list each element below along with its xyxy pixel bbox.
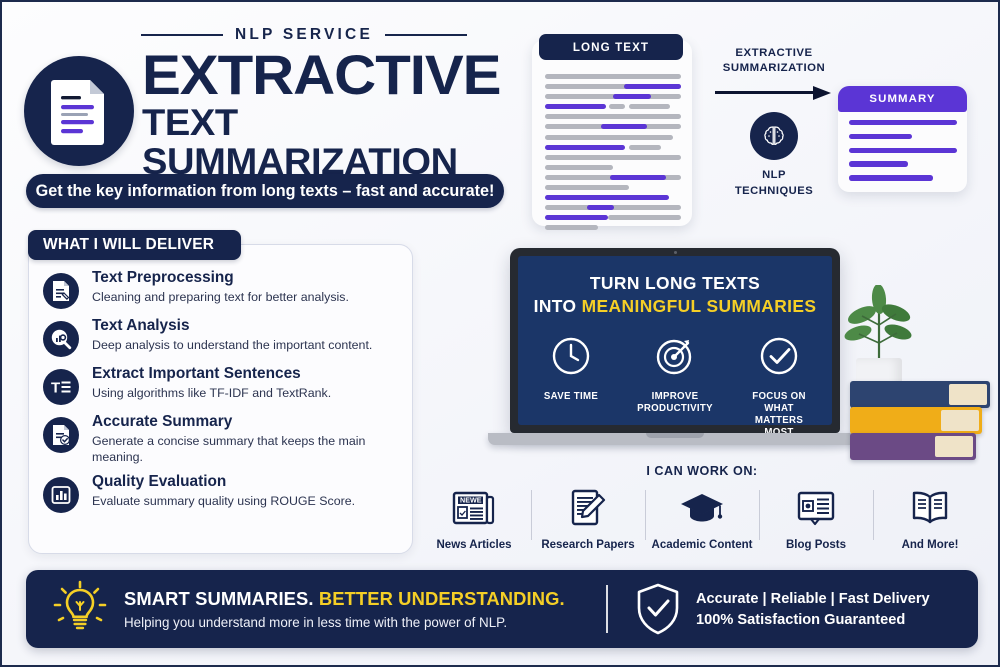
long-text-line xyxy=(545,135,681,140)
banner-left: SMART SUMMARIES. BETTER UNDERSTANDING. H… xyxy=(26,580,606,638)
banner-guarantee: Accurate | Reliable | Fast Delivery 100%… xyxy=(696,591,930,628)
work-on-label: News Articles xyxy=(420,539,528,551)
highlighted-segment xyxy=(545,145,625,150)
work-on-item-news: NEWE News Articles xyxy=(417,488,531,551)
long-text-line xyxy=(545,124,681,129)
plain-segment xyxy=(545,135,673,140)
deliver-item-title: Accurate Summary xyxy=(92,413,398,431)
screen-features: SAVE TIME IMPROVE PRODUCTIVITY xyxy=(531,335,819,440)
banner-subline: Helping you understand more in less time… xyxy=(124,615,565,630)
summary-line xyxy=(849,161,908,166)
process-column: EXTRACTIVE SUMMARIZATION NLP TECHNIQUES xyxy=(710,46,838,199)
deliver-item-desc: Deep analysis to understand the importan… xyxy=(92,337,398,353)
deliver-item-title: Quality Evaluation xyxy=(92,473,398,491)
long-text-line xyxy=(545,84,681,89)
list-item: Accurate Summary Generate a concise summ… xyxy=(43,413,398,465)
title-line-1: EXTRACTIVE xyxy=(142,48,537,102)
svg-text:NEWE: NEWE xyxy=(460,496,482,505)
deliver-item-desc: Evaluate summary quality using ROUGE Sco… xyxy=(92,493,398,509)
guarantee-line-2: 100% Satisfaction Guaranteed xyxy=(696,612,930,628)
plain-segment xyxy=(545,165,613,170)
long-text-header: LONG TEXT xyxy=(539,34,683,60)
work-on-row: NEWE News Articles Research Papers xyxy=(417,488,987,551)
banner-text: SMART SUMMARIES. BETTER UNDERSTANDING. H… xyxy=(124,588,565,630)
work-on-section: I CAN WORK ON: NEWE News Articles xyxy=(417,464,987,556)
check-circle-icon xyxy=(758,335,800,377)
magnifier-chart-icon xyxy=(43,321,79,357)
feature-improve-productivity: IMPROVE PRODUCTIVITY xyxy=(635,335,715,440)
document-edit-icon xyxy=(43,273,79,309)
work-on-label: Academic Content xyxy=(648,539,756,551)
plain-segment xyxy=(545,155,681,160)
newspaper-icon: NEWE xyxy=(451,488,497,528)
screen-headline-1: TURN LONG TEXTS xyxy=(590,273,760,294)
banner-headline-highlight: BETTER UNDERSTANDING. xyxy=(319,588,565,609)
technique-label-2: TECHNIQUES xyxy=(710,184,838,199)
arrow-right-icon xyxy=(715,86,833,100)
technique-label-1: NLP xyxy=(710,168,838,183)
feature-save-time: SAVE TIME xyxy=(531,335,611,440)
brain-icon xyxy=(750,112,798,160)
list-item: T Extract Important Sentences Using algo… xyxy=(43,365,398,405)
feature-label: IMPROVE PRODUCTIVITY xyxy=(635,391,715,415)
summarization-flow: LONG TEXT EXTRACTIVE SUMMARIZATION NLP T… xyxy=(527,34,987,234)
work-on-label: Research Papers xyxy=(534,539,642,551)
list-item: Quality Evaluation Evaluate summary qual… xyxy=(43,473,398,513)
summary-line xyxy=(849,175,933,180)
long-text-line xyxy=(545,225,681,230)
clock-icon xyxy=(550,335,592,377)
long-text-line xyxy=(545,205,681,210)
lightbulb-icon xyxy=(52,580,108,638)
title-line-2: TEXT SUMMARIZATION xyxy=(142,104,533,182)
text-extract-icon: T xyxy=(43,369,79,405)
target-icon xyxy=(654,335,696,377)
long-text-line xyxy=(545,195,681,200)
plain-segment xyxy=(608,215,681,220)
kicker-rule-left xyxy=(141,34,223,36)
webcam-icon xyxy=(674,251,677,254)
process-label-2: SUMMARIZATION xyxy=(710,61,838,76)
bottom-banner: SMART SUMMARIES. BETTER UNDERSTANDING. H… xyxy=(26,570,978,648)
laptop-notch xyxy=(646,433,704,438)
blog-post-icon xyxy=(794,488,838,528)
work-on-label: Blog Posts xyxy=(762,539,870,551)
summary-lines xyxy=(849,120,957,189)
laptop-mockup: TURN LONG TEXTS INTO MEANINGFUL SUMMARIE… xyxy=(510,248,840,453)
long-text-line xyxy=(545,155,681,160)
book-pages xyxy=(949,384,987,405)
long-text-line xyxy=(545,175,681,180)
summary-line xyxy=(849,120,957,125)
list-item: Text Analysis Deep analysis to understan… xyxy=(43,317,398,357)
long-text-line xyxy=(545,215,681,220)
book-stack xyxy=(850,373,996,462)
feature-label: SAVE TIME xyxy=(531,391,611,403)
banner-divider xyxy=(606,585,608,633)
book-pages xyxy=(941,410,979,431)
highlighted-segment xyxy=(613,94,651,99)
laptop-base xyxy=(488,433,862,445)
highlighted-segment xyxy=(624,84,681,89)
laptop-lid: TURN LONG TEXTS INTO MEANINGFUL SUMMARIE… xyxy=(510,248,840,433)
deliver-tab-label: WHAT I WILL DELIVER xyxy=(28,230,241,260)
header-main: EXTRACTIVE TEXT SUMMARIZATION xyxy=(22,48,522,178)
graduation-cap-icon xyxy=(678,488,726,528)
banner-headline: SMART SUMMARIES. BETTER UNDERSTANDING. xyxy=(124,588,565,610)
long-text-line xyxy=(545,114,681,119)
infographic-poster: NLP SERVICE EXTRACTIVE TEXT SUMMARIZATIO… xyxy=(0,0,1000,667)
long-text-line xyxy=(545,145,681,150)
work-on-item-blog: Blog Posts xyxy=(759,488,873,551)
plain-segment xyxy=(545,185,629,190)
svg-text:T: T xyxy=(51,380,60,397)
plain-segment xyxy=(545,114,681,119)
book-yellow xyxy=(850,407,982,434)
book-navy xyxy=(850,381,990,408)
highlighted-segment xyxy=(545,195,669,200)
book-pages xyxy=(935,436,973,457)
deliver-item-title: Text Preprocessing xyxy=(92,269,398,287)
highlighted-segment xyxy=(545,215,608,220)
long-text-line xyxy=(545,185,681,190)
deliver-item-title: Text Analysis xyxy=(92,317,398,335)
kicker-label: NLP SERVICE xyxy=(235,26,373,44)
deliver-list: Text Preprocessing Cleaning and preparin… xyxy=(29,269,412,521)
screen-headline-2-plain: INTO xyxy=(534,296,582,316)
deliver-item-desc: Using algorithms like TF-IDF and TextRan… xyxy=(92,385,398,401)
plain-segment xyxy=(629,104,670,109)
summary-line xyxy=(849,148,957,153)
screen-headline-2: INTO MEANINGFUL SUMMARIES xyxy=(534,296,817,317)
deliver-item-desc: Cleaning and preparing text for better a… xyxy=(92,289,398,305)
long-text-line xyxy=(545,74,681,79)
process-label-1: EXTRACTIVE xyxy=(710,46,838,61)
work-on-item-research: Research Papers xyxy=(531,488,645,551)
list-item: Text Preprocessing Cleaning and preparin… xyxy=(43,269,398,309)
work-on-item-more: And More! xyxy=(873,488,987,551)
highlighted-segment xyxy=(610,175,666,180)
plain-segment xyxy=(545,74,681,79)
summary-line xyxy=(849,134,912,139)
page-title: EXTRACTIVE TEXT SUMMARIZATION xyxy=(142,48,522,181)
open-book-icon xyxy=(907,488,953,528)
bar-chart-icon xyxy=(43,477,79,513)
laptop-screen: TURN LONG TEXTS INTO MEANINGFUL SUMMARIE… xyxy=(518,256,832,425)
long-text-line xyxy=(545,94,681,99)
plain-segment xyxy=(609,104,625,109)
shield-check-icon xyxy=(634,582,682,636)
summary-card: SUMMARY xyxy=(838,86,967,192)
long-text-lines xyxy=(545,74,681,236)
highlighted-segment xyxy=(601,124,647,129)
book-purple xyxy=(850,433,976,460)
highlighted-segment xyxy=(545,104,606,109)
kicker-rule-right xyxy=(385,34,467,36)
long-text-line xyxy=(545,104,681,109)
highlighted-segment xyxy=(587,205,614,210)
guarantee-line-1: Accurate | Reliable | Fast Delivery xyxy=(696,591,930,607)
screen-headline-2-highlight: MEANINGFUL SUMMARIES xyxy=(582,296,817,316)
plain-segment xyxy=(545,225,598,230)
work-on-title: I CAN WORK ON: xyxy=(417,464,987,478)
banner-right: Accurate | Reliable | Fast Delivery 100%… xyxy=(612,582,930,636)
banner-headline-plain: SMART SUMMARIES. xyxy=(124,588,319,609)
document-check-icon xyxy=(43,417,79,453)
long-text-line xyxy=(545,165,681,170)
document-lines-icon xyxy=(24,56,134,166)
work-on-item-academic: Academic Content xyxy=(645,488,759,551)
long-text-card xyxy=(532,40,692,226)
work-on-label: And More! xyxy=(876,539,984,551)
summary-header: SUMMARY xyxy=(838,86,967,112)
deliver-item-desc: Generate a concise summary that keeps th… xyxy=(92,433,398,465)
deliver-card: Text Preprocessing Cleaning and preparin… xyxy=(28,244,413,554)
feature-focus: FOCUS ON WHAT MATTERS MOST xyxy=(739,335,819,440)
tagline-pill: Get the key information from long texts … xyxy=(26,174,504,208)
deliver-item-title: Extract Important Sentences xyxy=(92,365,398,383)
research-paper-icon xyxy=(566,488,610,528)
plain-segment xyxy=(629,145,660,150)
